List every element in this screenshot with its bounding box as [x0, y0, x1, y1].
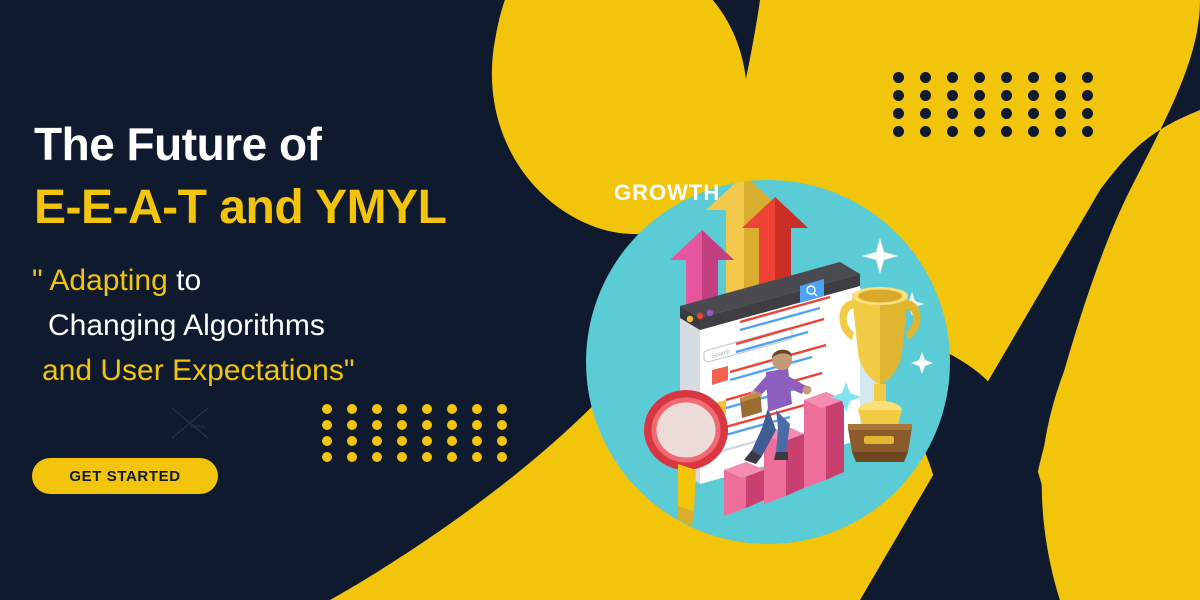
grid-dot [974, 90, 985, 101]
subtitle-highlight: " Adapting [32, 264, 176, 297]
browser-dot-yellow [687, 316, 693, 322]
subtitle-line-1-rest: to [176, 264, 201, 297]
grid-dot [893, 108, 904, 119]
promotional-banner: GROWTH [0, 0, 1200, 600]
dot-grid-top-right [893, 72, 1109, 144]
grid-dot [1082, 90, 1093, 101]
grid-dot [1001, 90, 1012, 101]
grid-dot [1001, 126, 1012, 137]
grid-dot [1028, 126, 1039, 137]
page-title-line-1: The Future of [34, 117, 321, 171]
grid-dot [920, 126, 931, 137]
grid-dot [1082, 108, 1093, 119]
subtitle-line-2: Changing Algorithms [32, 303, 354, 348]
grid-dot [920, 72, 931, 83]
grid-dot [1028, 108, 1039, 119]
grid-dot [893, 126, 904, 137]
get-started-button[interactable]: GET STARTED [32, 458, 218, 494]
grid-dot [893, 72, 904, 83]
grid-dot [974, 72, 985, 83]
grid-dot [1001, 72, 1012, 83]
browser-dot-red [697, 313, 703, 319]
subtitle-line-1: " Adapting to [32, 258, 354, 303]
grid-dot [920, 108, 931, 119]
grid-dot [1082, 72, 1093, 83]
grid-dot [920, 90, 931, 101]
grid-dot [893, 90, 904, 101]
grid-dot [1055, 108, 1066, 119]
grid-dot [1055, 126, 1066, 137]
grid-dot [947, 108, 958, 119]
grid-dot [1001, 108, 1012, 119]
grid-dot [947, 72, 958, 83]
subtitle-line-3: and User Expectations" [32, 348, 354, 393]
grid-dot [947, 126, 958, 137]
grid-dot [974, 126, 985, 137]
grid-dot [974, 108, 985, 119]
grid-dot [1028, 72, 1039, 83]
browser-dot-purple [707, 310, 713, 316]
subtitle-block: " Adapting to Changing Algorithms and Us… [32, 258, 354, 393]
grid-dot [1055, 72, 1066, 83]
page-title-line-2: E-E-A-T and YMYL [34, 180, 446, 235]
text-content-column: The Future of E-E-A-T and YMYL " Adaptin… [0, 0, 600, 600]
grid-dot [1028, 90, 1039, 101]
grid-dot [1055, 90, 1066, 101]
grid-dot [1082, 126, 1093, 137]
growth-label: GROWTH [614, 180, 720, 205]
grid-dot [947, 90, 958, 101]
